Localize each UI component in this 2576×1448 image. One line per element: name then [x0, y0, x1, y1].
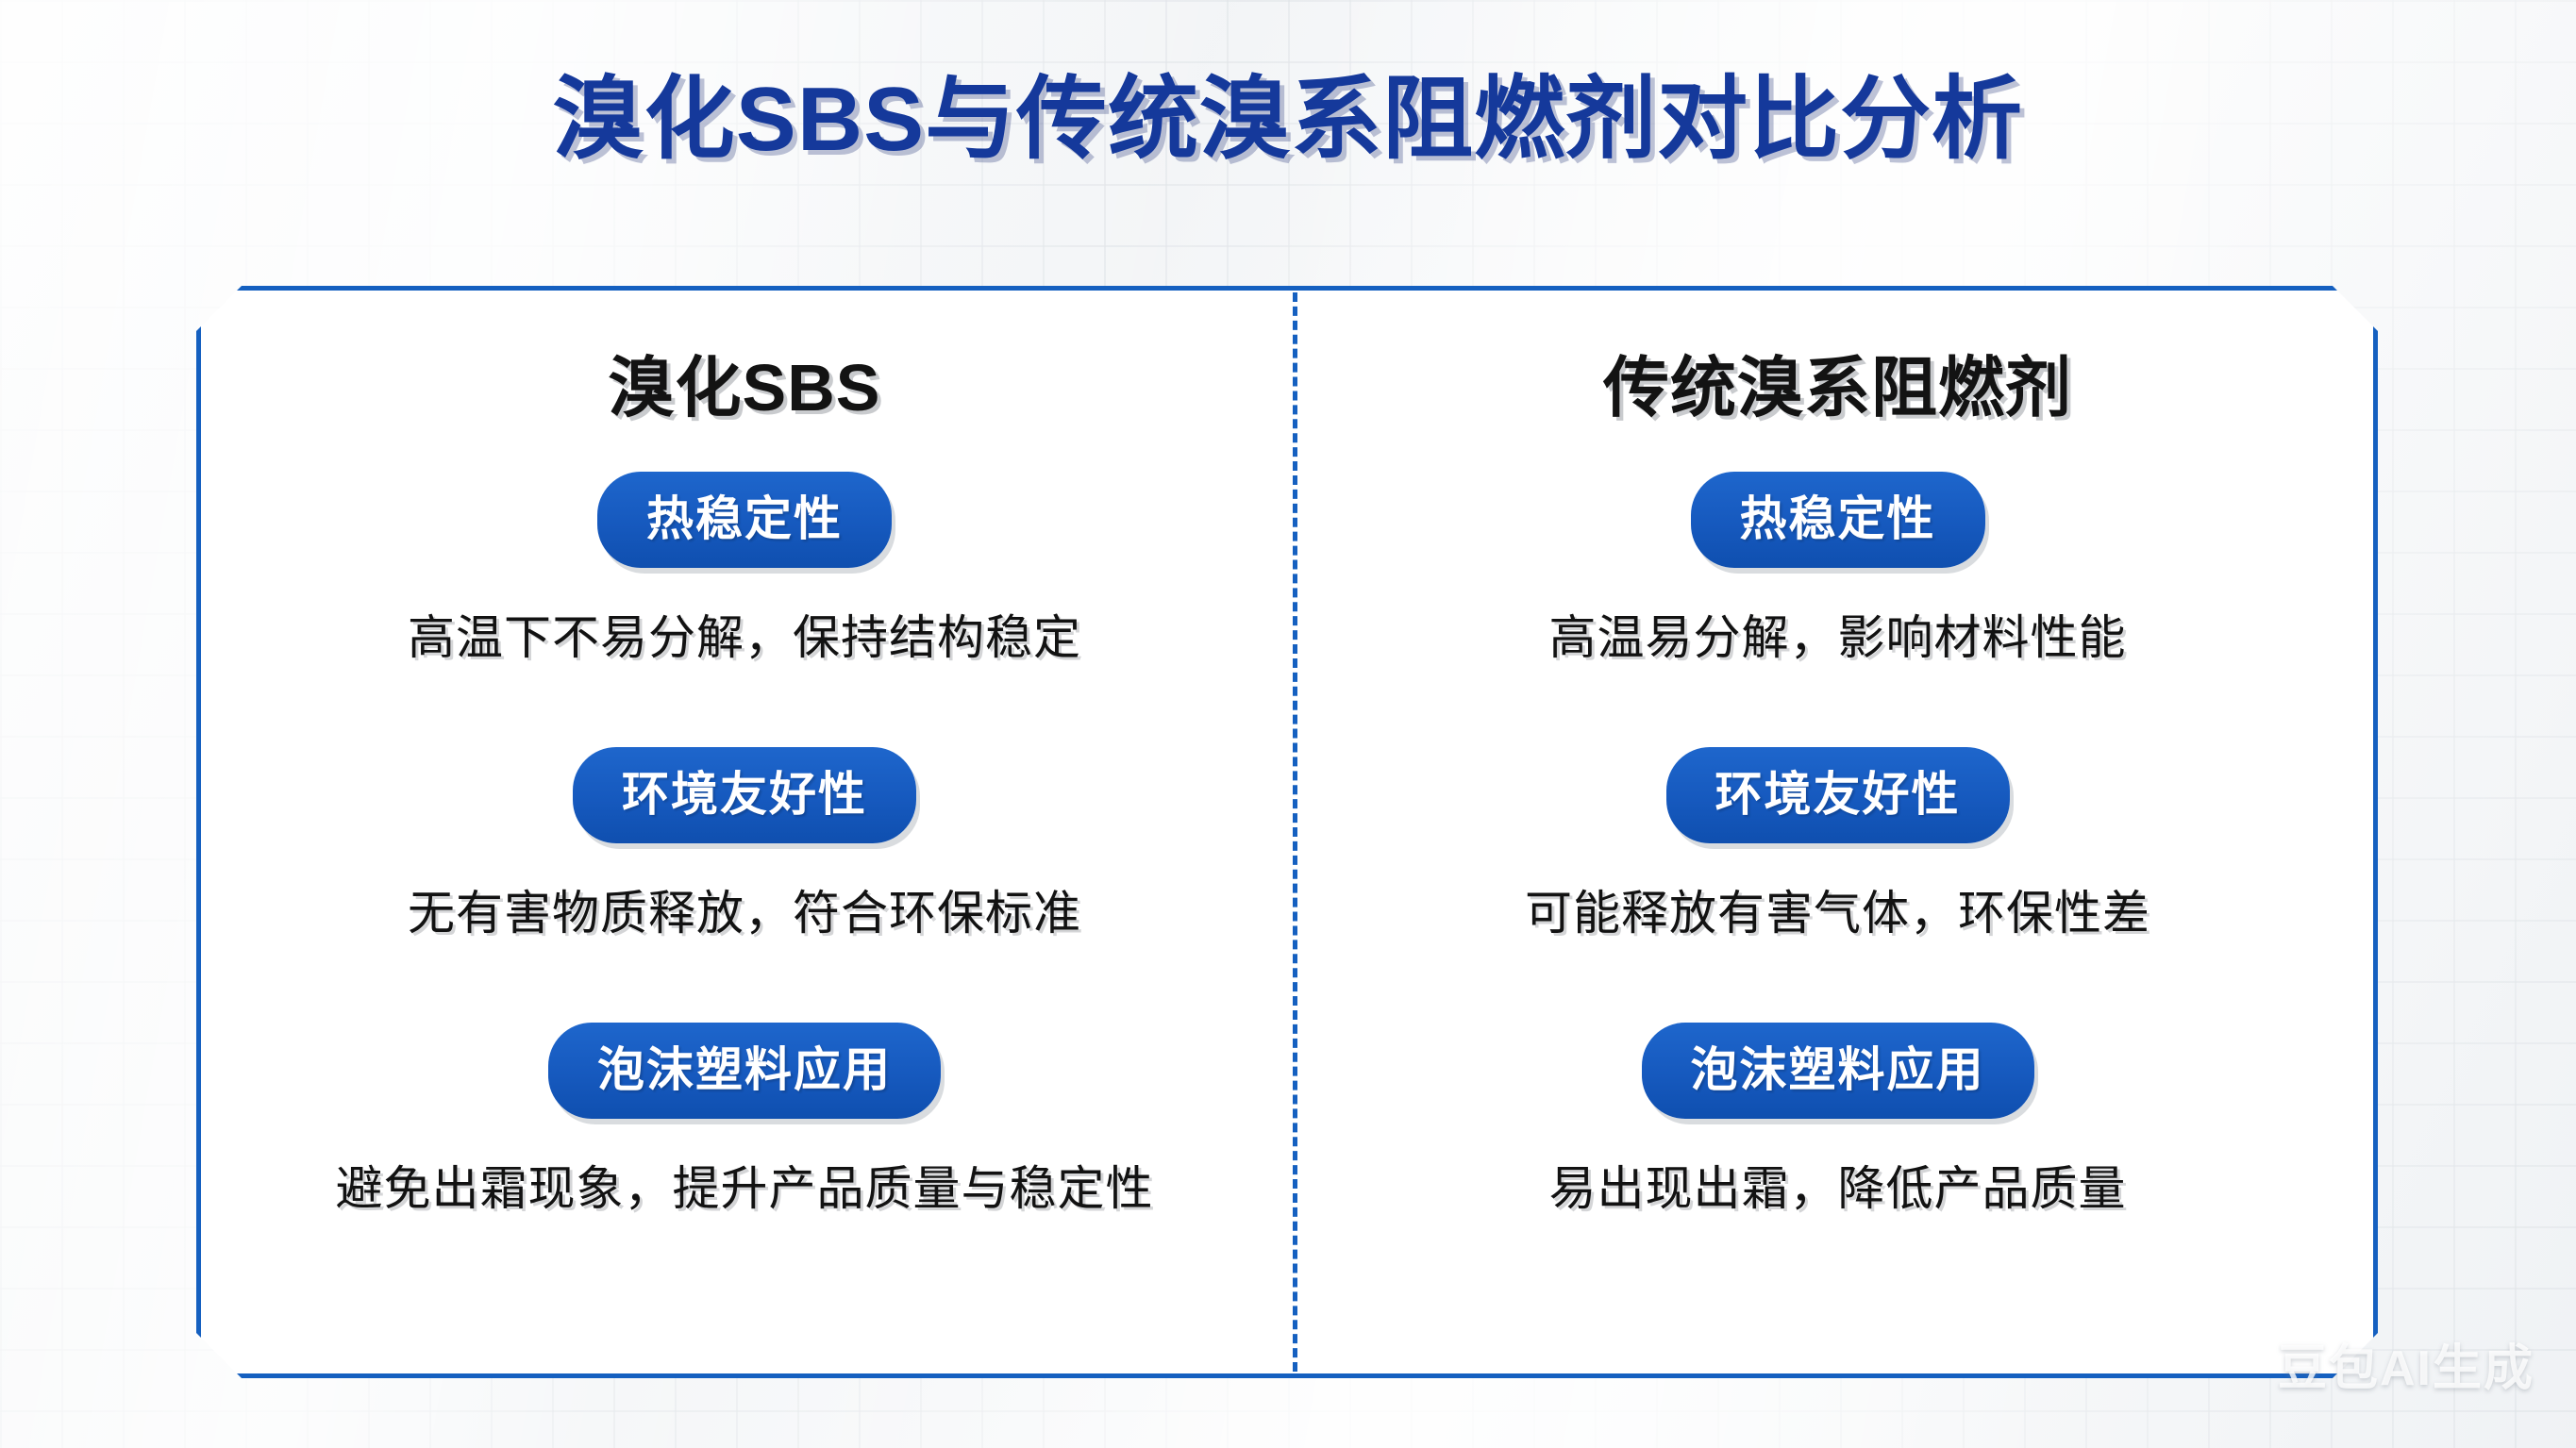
badge-thermal-stability-right[interactable]: 热稳定性 [1691, 472, 1985, 568]
badge-thermal-stability-left[interactable]: 热稳定性 [597, 472, 892, 568]
page-title: 溴化SBS与传统溴系阻燃剂对比分析 [0, 45, 2576, 176]
badge-foam-plastic-application-right[interactable]: 泡沫塑料应用 [1642, 1023, 2034, 1119]
description-foam-plastic-application-right: 易出现出霜，降低产品质量 [1549, 1151, 2127, 1219]
description-thermal-stability-left: 高温下不易分解，保持结构稳定 [408, 600, 1081, 668]
description-thermal-stability-right: 高温易分解，影响材料性能 [1549, 600, 2127, 668]
description-foam-plastic-application-left: 避免出霜现象，提升产品质量与稳定性 [336, 1151, 1154, 1219]
comparison-row-right-2: 环境友好性 可能释放有害气体，环保性差 [1525, 747, 2150, 943]
comparison-row-right-3: 泡沫塑料应用 易出现出霜，降低产品质量 [1549, 1023, 2127, 1219]
badge-eco-friendliness-left[interactable]: 环境友好性 [573, 747, 916, 843]
comparison-row-left-1: 热稳定性 高温下不易分解，保持结构稳定 [408, 472, 1081, 668]
column-header-left: 溴化SBS [609, 335, 881, 430]
column-header-right: 传统溴系阻燃剂 [1603, 335, 2072, 430]
description-eco-friendliness-left: 无有害物质释放，符合环保标准 [408, 875, 1081, 943]
badge-eco-friendliness-right[interactable]: 环境友好性 [1666, 747, 2010, 843]
description-eco-friendliness-right: 可能释放有害气体，环保性差 [1525, 875, 2150, 943]
comparison-row-right-1: 热稳定性 高温易分解，影响材料性能 [1549, 472, 2127, 668]
badge-foam-plastic-application-left[interactable]: 泡沫塑料应用 [548, 1023, 941, 1119]
comparison-column-left: 溴化SBS 热稳定性 高温下不易分解，保持结构稳定 环境友好性 无有害物质释放，… [196, 286, 1293, 1378]
watermark-label: 豆包AI生成 [2278, 1328, 2534, 1399]
comparison-row-left-2: 环境友好性 无有害物质释放，符合环保标准 [408, 747, 1081, 943]
comparison-row-left-3: 泡沫塑料应用 避免出霜现象，提升产品质量与稳定性 [336, 1023, 1154, 1219]
slide-canvas: 溴化SBS与传统溴系阻燃剂对比分析 溴化SBS 热稳定性 高温下不易分解，保持结… [0, 0, 2576, 1448]
comparison-column-right: 传统溴系阻燃剂 热稳定性 高温易分解，影响材料性能 环境友好性 可能释放有害气体… [1297, 286, 2378, 1378]
